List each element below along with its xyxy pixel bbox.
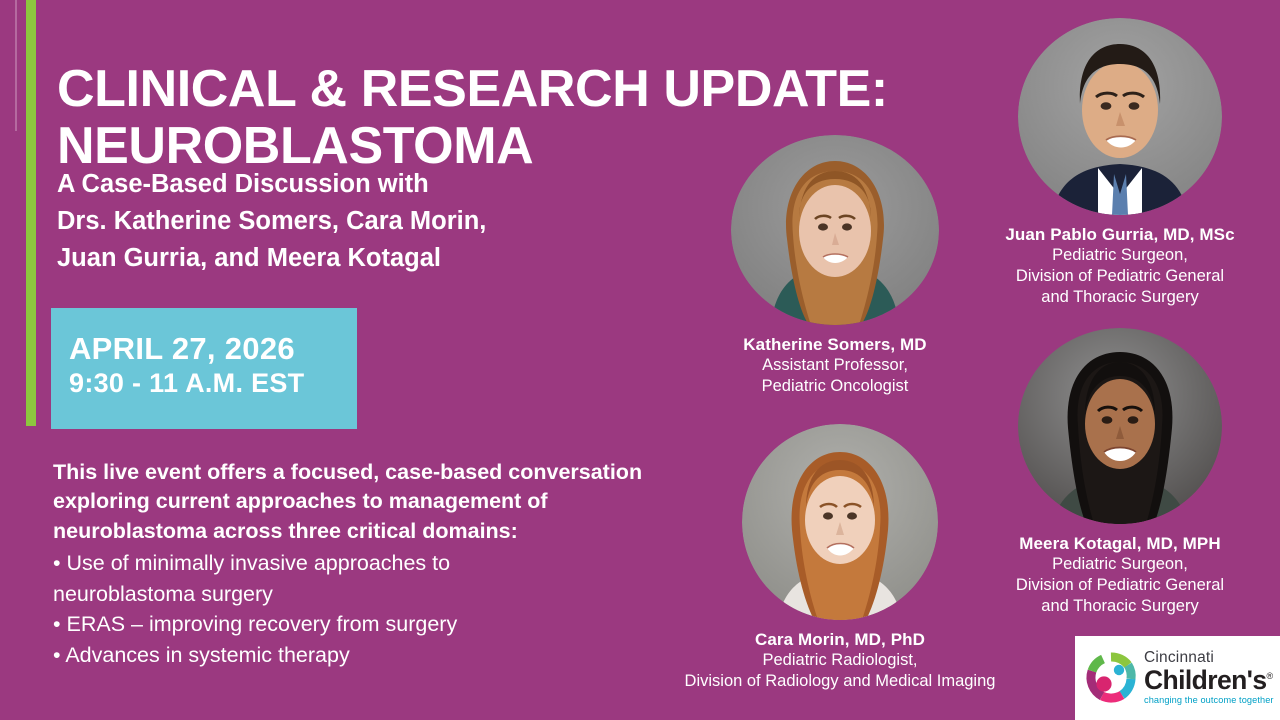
logo-line-cincinnati: Cincinnati — [1144, 650, 1274, 666]
speaker-name: Cara Morin, MD, PhD — [630, 629, 1050, 650]
event-time: 9:30 - 11 A.M. EST — [69, 367, 357, 399]
speaker-name: Juan Pablo Gurria, MD, MSc — [960, 224, 1280, 245]
webinar-poster: Clinical & Research Update: Neuroblastom… — [0, 0, 1280, 720]
speaker-role-line: Division of Pediatric General — [960, 266, 1280, 287]
speaker-card-gurria: Juan Pablo Gurria, MD, MSc Pediatric Sur… — [960, 18, 1280, 307]
speaker-role-line: Pediatric Surgeon, — [960, 554, 1280, 575]
event-date-badge: APRIL 27, 2026 9:30 - 11 A.M. EST — [51, 308, 357, 429]
speaker-photo-kotagal — [1018, 328, 1222, 524]
speaker-role-line: Assistant Professor, — [660, 355, 1010, 376]
cincinnati-childrens-swirl-icon — [1084, 651, 1138, 705]
speaker-caption-morin: Cara Morin, MD, PhD Pediatric Radiologis… — [630, 629, 1050, 692]
bullet-item: • Use of minimally invasive approaches t… — [53, 548, 723, 579]
bullet-item: neuroblastoma surgery — [53, 579, 723, 610]
bullet-item: • ERAS – improving recovery from surgery — [53, 609, 723, 640]
logo-tagline: changing the outcome together — [1144, 696, 1274, 705]
speaker-caption-gurria: Juan Pablo Gurria, MD, MSc Pediatric Sur… — [960, 224, 1280, 307]
speaker-role-line: and Thoracic Surgery — [960, 287, 1280, 308]
speaker-photo-somers — [731, 135, 939, 325]
description-intro-line-2: exploring current approaches to manageme… — [53, 487, 723, 516]
cincinnati-childrens-logo: Cincinnati Children's® changing the outc… — [1075, 636, 1280, 720]
speaker-role-line: Pediatric Radiologist, — [630, 650, 1050, 671]
logo-line-childrens: Children's® — [1144, 667, 1274, 694]
speaker-name: Katherine Somers, MD — [660, 334, 1010, 355]
speaker-role-line: Division of Radiology and Medical Imagin… — [630, 671, 1050, 692]
subtitle-line-2: Drs. Katherine Somers, Cara Morin, — [57, 203, 737, 240]
green-accent-bar — [26, 0, 36, 426]
speaker-caption-somers: Katherine Somers, MD Assistant Professor… — [660, 334, 1010, 397]
thin-accent-line — [15, 0, 17, 131]
speaker-role-line: Pediatric Oncologist — [660, 376, 1010, 397]
speaker-name: Meera Kotagal, MD, MPH — [960, 533, 1280, 554]
speaker-photo-gurria — [1018, 18, 1222, 215]
subtitle: A Case-Based Discussion with Drs. Kather… — [57, 166, 737, 277]
description-intro-line-1: This live event offers a focused, case-b… — [53, 458, 723, 487]
subtitle-line-3: Juan Gurria, and Meera Kotagal — [57, 240, 737, 277]
speaker-card-somers: Katherine Somers, MD Assistant Professor… — [660, 135, 1010, 397]
event-date: APRIL 27, 2026 — [69, 332, 357, 367]
speaker-role-line: Pediatric Surgeon, — [960, 245, 1280, 266]
bullet-item: • Advances in systemic therapy — [53, 640, 723, 671]
logo-wordmark: Cincinnati Children's® changing the outc… — [1144, 650, 1274, 705]
speaker-photo-morin — [742, 424, 938, 620]
speaker-card-kotagal: Meera Kotagal, MD, MPH Pediatric Surgeon… — [960, 328, 1280, 616]
description-intro-line-3: neuroblastoma across three critical doma… — [53, 517, 723, 546]
description-intro: This live event offers a focused, case-b… — [53, 458, 723, 546]
speaker-caption-kotagal: Meera Kotagal, MD, MPH Pediatric Surgeon… — [960, 533, 1280, 616]
event-description: This live event offers a focused, case-b… — [53, 458, 723, 670]
speaker-role-line: and Thoracic Surgery — [960, 596, 1280, 617]
subtitle-line-1: A Case-Based Discussion with — [57, 166, 737, 203]
headline-line-1: Clinical & Research Update: — [57, 61, 1057, 118]
speaker-role-line: Division of Pediatric General — [960, 575, 1280, 596]
